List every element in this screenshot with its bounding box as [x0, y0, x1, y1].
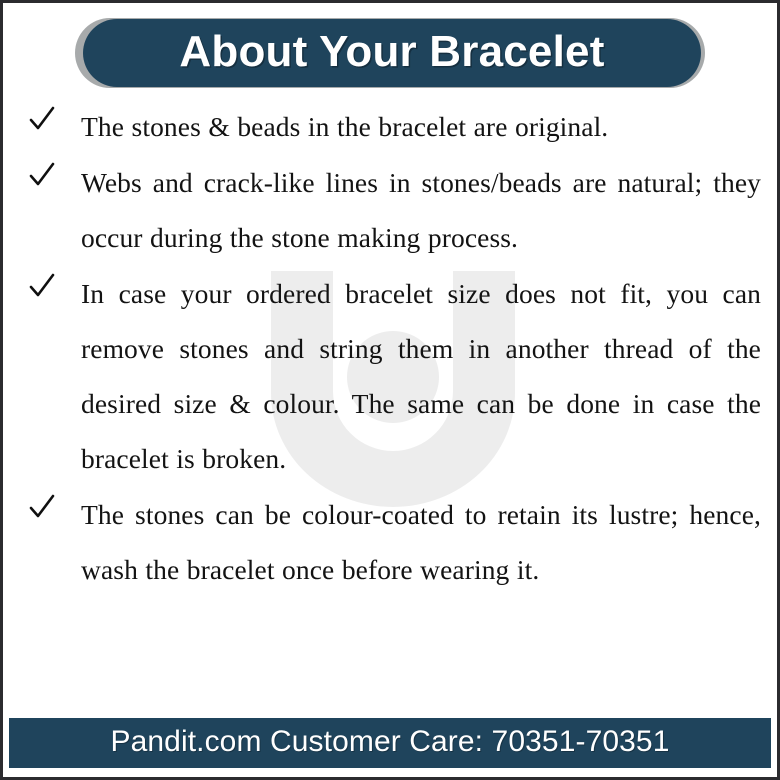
list-item: The stones & beads in the bracelet are o…	[3, 99, 780, 154]
bullet-list: The stones & beads in the bracelet are o…	[3, 99, 780, 598]
page-title: About Your Bracelet	[179, 30, 604, 77]
customer-care-text: Pandit.com Customer Care: 70351-70351	[110, 727, 669, 759]
check-icon	[29, 161, 55, 191]
list-item-text: Webs and crack-like lines in stones/bead…	[81, 155, 761, 265]
footer-bar: Pandit.com Customer Care: 70351-70351	[9, 718, 771, 768]
list-item: In case your ordered bracelet size does …	[3, 266, 780, 486]
list-item: Webs and crack-like lines in stones/bead…	[3, 155, 780, 265]
list-item: The stones can be colour-coated to retai…	[3, 487, 780, 597]
list-item-text: The stones can be colour-coated to retai…	[81, 487, 761, 597]
check-icon	[29, 493, 55, 523]
header: About Your Bracelet	[3, 3, 780, 99]
header-pill: About Your Bracelet	[83, 19, 701, 87]
list-item-text: In case your ordered bracelet size does …	[81, 266, 761, 486]
list-item-text: The stones & beads in the bracelet are o…	[81, 99, 761, 154]
about-your-bracelet-card: About Your Bracelet The stones & beads i…	[0, 0, 780, 780]
check-icon	[29, 272, 55, 302]
check-icon	[29, 105, 55, 135]
